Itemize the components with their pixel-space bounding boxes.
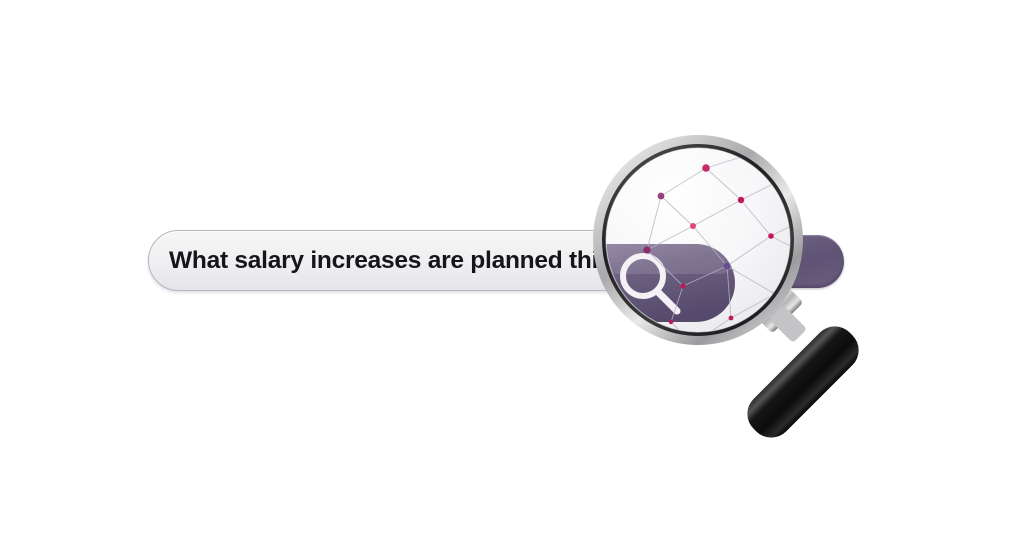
lens-highlight	[575, 118, 745, 248]
search-input[interactable]: What salary increases are planned this y…	[169, 231, 682, 292]
search-submit-button[interactable]	[614, 235, 844, 288]
search-icon	[650, 244, 686, 280]
search-bar[interactable]: What salary increases are planned this y…	[148, 230, 701, 291]
illustration-canvas: What salary increases are planned this y…	[0, 0, 1024, 535]
magnifier-handle	[739, 283, 868, 443]
